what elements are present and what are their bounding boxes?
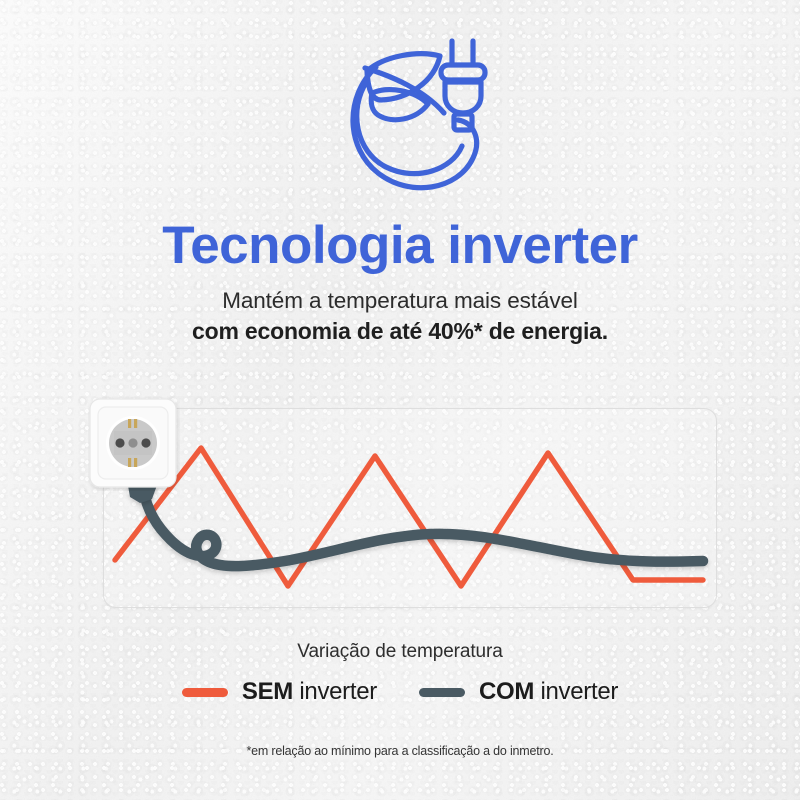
- legend-swatch-com-icon: [419, 688, 465, 697]
- legend-label-com-strong: COM: [479, 678, 534, 705]
- legend-item-com-inverter: COM inverter: [419, 678, 618, 706]
- legend-item-sem-inverter: SEM inverter: [182, 678, 377, 706]
- legend-label-sem-rest: inverter: [299, 678, 377, 705]
- legend-label-sem-strong: SEM: [242, 678, 293, 705]
- legend-label-com-rest: inverter: [540, 678, 618, 705]
- chart-legend: SEM inverter COM inverter: [0, 678, 800, 706]
- subtitle-line-1: Mantém a temperatura mais estável: [0, 288, 800, 314]
- headline-block: Tecnologia inverter Mantém a temperatura…: [0, 218, 800, 345]
- footnote: *em relação ao mínimo para a classificaç…: [0, 744, 800, 758]
- legend-swatch-sem-icon: [182, 688, 228, 697]
- eco-plug-icon: [340, 34, 500, 199]
- legend-label-com: COM inverter: [479, 678, 618, 706]
- subtitle-line-2: com economia de até 40%* de energia.: [0, 318, 800, 345]
- page-title: Tecnologia inverter: [0, 218, 800, 274]
- chart-caption: Variação de temperatura: [0, 641, 800, 663]
- series-sem-inverter-line: [115, 448, 703, 586]
- wall-socket: [88, 397, 180, 491]
- legend-label-sem: SEM inverter: [242, 678, 377, 706]
